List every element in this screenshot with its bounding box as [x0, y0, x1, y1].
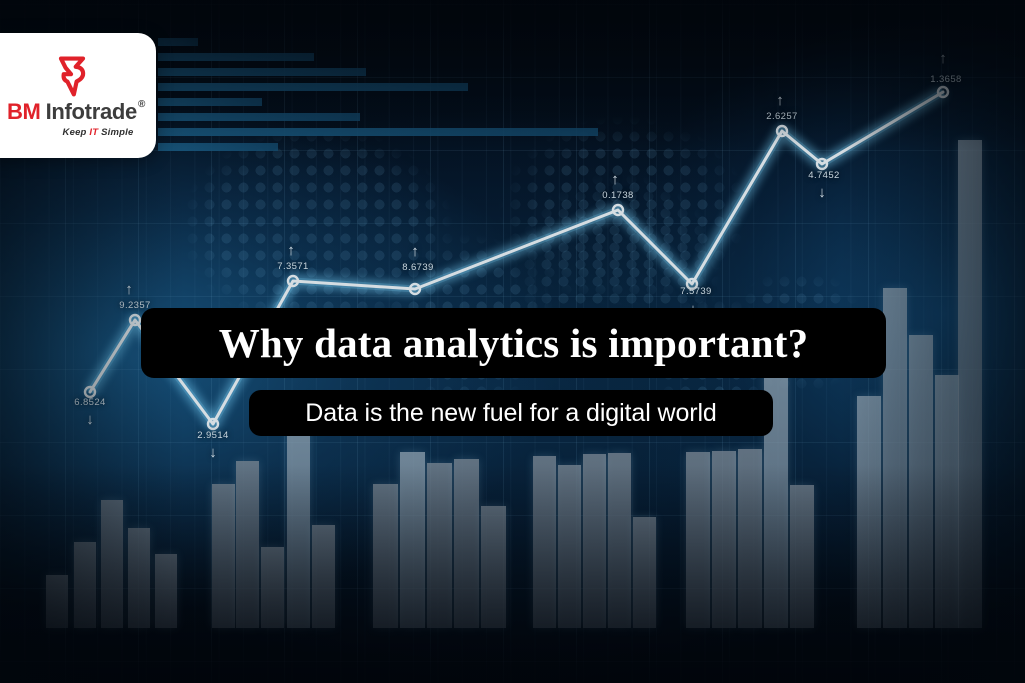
headline-badge: Why data analytics is important?	[141, 308, 886, 378]
brand-name-secondary: Infotrade	[46, 101, 137, 123]
brand-logo-card[interactable]: BM Infotrade ® Keep IT Simple	[0, 33, 156, 158]
subtitle-badge: Data is the new fuel for a digital world	[249, 390, 773, 436]
brand-tagline: Keep IT Simple	[63, 127, 134, 138]
registered-mark-icon: ®	[138, 100, 145, 110]
bm-lightning-mark-icon	[49, 53, 95, 99]
brand-wordmark: BM Infotrade ®	[7, 101, 145, 123]
page-title: Why data analytics is important?	[219, 319, 809, 367]
infographic-banner: 6.8524↓9.2357↑2.9514↓7.3571↑8.6739↑0.173…	[0, 0, 1025, 683]
tagline-part1: Keep	[63, 127, 90, 138]
brand-name-primary: BM	[7, 101, 41, 123]
tagline-highlight: IT	[89, 127, 98, 138]
tagline-part2: Simple	[98, 127, 133, 138]
page-subtitle: Data is the new fuel for a digital world	[305, 399, 717, 428]
